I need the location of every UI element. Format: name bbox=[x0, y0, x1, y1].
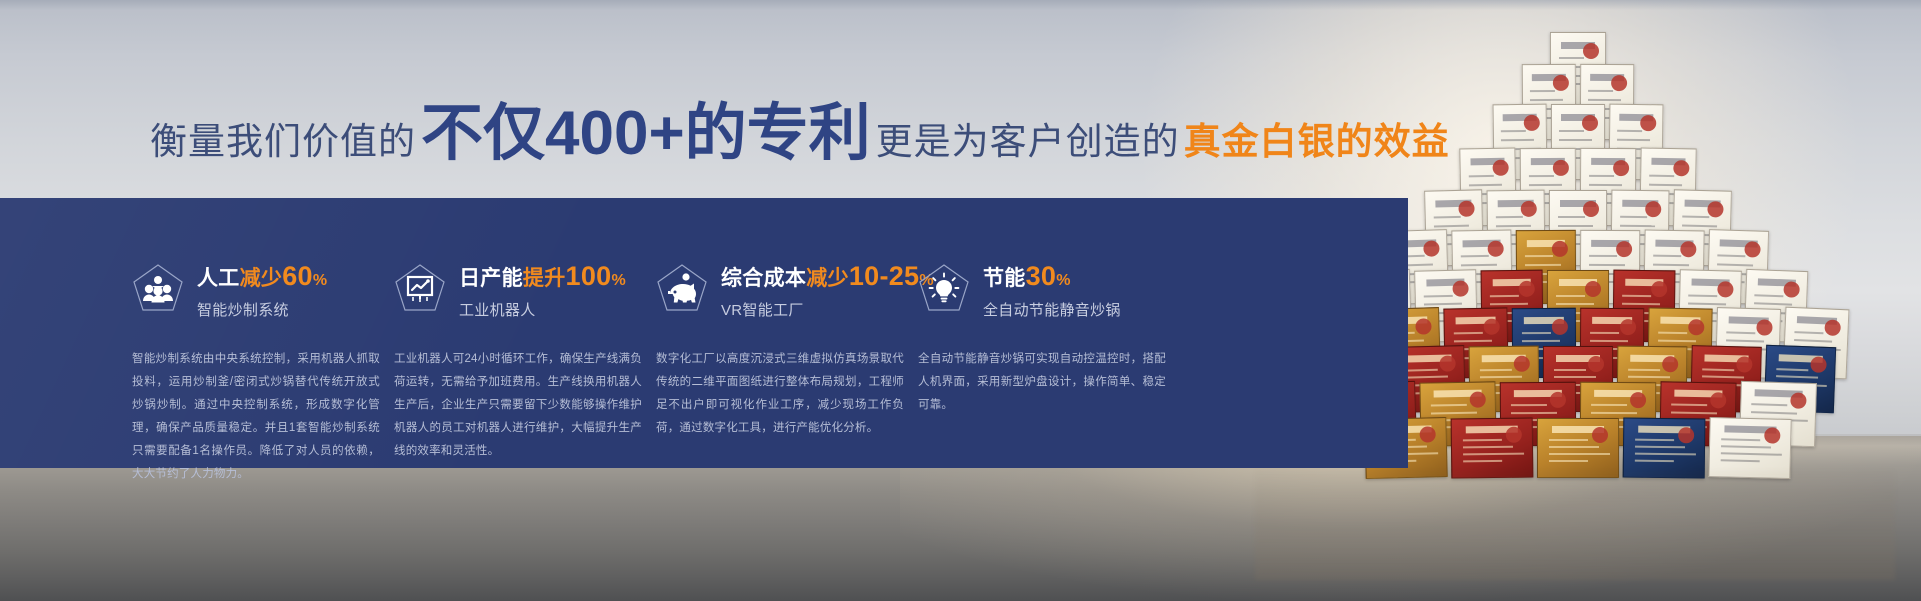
certificate-text-line bbox=[1434, 216, 1461, 219]
certificate-text-line bbox=[1717, 255, 1745, 258]
certificate-seal bbox=[1673, 160, 1689, 176]
feature-card[interactable]: 节能30% 全自动节能静音炒锅 全自动节能静音炒锅可实现自动控温控时，搭配人机界… bbox=[918, 260, 1166, 486]
certificate-text-line bbox=[1468, 184, 1501, 187]
certificate-seal bbox=[1783, 281, 1800, 298]
certificate-seal bbox=[1616, 241, 1632, 257]
headline-lead: 衡量我们价值的 bbox=[150, 111, 416, 165]
certificate-seal bbox=[1550, 392, 1566, 408]
certificate-text-line bbox=[1463, 439, 1501, 441]
certificate-seal bbox=[1415, 318, 1431, 334]
certificate-seal bbox=[1470, 391, 1486, 407]
certificate-text-line bbox=[1635, 445, 1685, 448]
certificate-text-line bbox=[1721, 459, 1759, 462]
feature-card-title: 综合成本减少10-25% bbox=[721, 262, 934, 290]
feature-card-header: 节能30% 全自动节能静音炒锅 bbox=[918, 260, 1166, 332]
certificate-seal bbox=[1552, 160, 1568, 176]
title-accent: 减少 bbox=[240, 267, 283, 290]
feature-card-subtitle: 工业机器人 bbox=[459, 299, 626, 320]
certificate-item bbox=[1537, 418, 1619, 478]
certificate-text-line bbox=[1721, 438, 1759, 441]
certificate-text-line bbox=[1556, 295, 1585, 297]
certificate-seal bbox=[1452, 280, 1468, 296]
certificate-text-line bbox=[1549, 439, 1587, 441]
certificate-text-line bbox=[1511, 404, 1547, 406]
feature-card-titles: 综合成本减少10-25% VR智能工厂 bbox=[721, 260, 934, 320]
team-people-icon bbox=[132, 263, 184, 313]
certificate-seal bbox=[1514, 356, 1530, 372]
certificate-text-line bbox=[1463, 452, 1524, 455]
certificate-text-line bbox=[1558, 216, 1585, 218]
certificate-text-line bbox=[1589, 175, 1615, 177]
certificate-text-line bbox=[1588, 90, 1613, 92]
certificate-seal bbox=[1521, 201, 1537, 217]
certificate-seal bbox=[1765, 427, 1781, 443]
title-accent: 减少 bbox=[806, 267, 849, 290]
certificate-text-line bbox=[1525, 264, 1561, 266]
piggy-bank-icon bbox=[656, 263, 708, 313]
certificate-text-line bbox=[1653, 255, 1681, 258]
certificate-text-line bbox=[1672, 404, 1708, 407]
certificate-seal bbox=[1810, 356, 1827, 373]
chart-presentation-icon bbox=[394, 263, 446, 313]
certificate-text-line bbox=[1528, 175, 1554, 177]
feature-card-titles: 人工减少60% 智能炒制系统 bbox=[197, 260, 327, 320]
certificate-text-line bbox=[1468, 175, 1494, 177]
certificate-seal bbox=[1420, 426, 1436, 442]
certificate-text-line bbox=[1549, 446, 1599, 448]
certificate-text-line bbox=[1752, 403, 1788, 406]
certificate-text-line bbox=[1496, 216, 1523, 218]
certificate-seal bbox=[1662, 356, 1678, 372]
certificate-text-line bbox=[1461, 255, 1489, 258]
certificate-text-line bbox=[1405, 376, 1447, 379]
feature-panel: 人工减少60% 智能炒制系统 智能炒制系统由中央系统控制，采用机器人抓取投料，运… bbox=[0, 198, 1408, 468]
certificate-text-line bbox=[1628, 368, 1661, 370]
certificate-seal bbox=[1708, 201, 1724, 217]
title-prefix: 人工 bbox=[197, 267, 240, 290]
certificate-text-line bbox=[1721, 445, 1771, 448]
background-top-band bbox=[0, 0, 1921, 10]
certificate-seal bbox=[1523, 115, 1539, 131]
certificate-seal bbox=[1583, 201, 1599, 217]
certificate-text-line bbox=[1591, 404, 1627, 406]
certificate-text-line bbox=[1617, 130, 1642, 132]
certificate-text-line bbox=[1463, 445, 1513, 448]
certificate-text-line bbox=[1549, 460, 1587, 462]
certificate-text-line bbox=[1658, 340, 1696, 343]
certificate-seal bbox=[1611, 75, 1627, 91]
certificate-text-line bbox=[1454, 340, 1492, 343]
headline-middle: 更是为客户创造的 bbox=[876, 111, 1180, 165]
certificate-text-line bbox=[1688, 303, 1725, 306]
title-accent: 提升 bbox=[523, 267, 566, 290]
certificate-text-line bbox=[1431, 404, 1467, 407]
feature-card-titles: 节能30% 全自动节能静音炒锅 bbox=[983, 260, 1121, 320]
certificate-text-line bbox=[1658, 332, 1688, 335]
certificate-text-line bbox=[1682, 225, 1717, 228]
certificate-text-line bbox=[1635, 438, 1673, 440]
certificate-text-line bbox=[1479, 369, 1512, 371]
certificate-text-line bbox=[1649, 184, 1682, 187]
certificate-text-line bbox=[1490, 295, 1519, 297]
certificate-text-line bbox=[1549, 453, 1610, 455]
certificate-text-line bbox=[1405, 369, 1438, 372]
feature-card[interactable]: 人工减少60% 智能炒制系统 智能炒制系统由中央系统控制，采用机器人抓取投料，运… bbox=[132, 260, 380, 486]
certificate-text-line bbox=[1726, 331, 1756, 334]
certificate-text-line bbox=[1794, 339, 1832, 343]
feature-card-title: 人工减少60% bbox=[197, 262, 327, 290]
certificate-text-line bbox=[1726, 340, 1764, 343]
certificate-text-line bbox=[1776, 376, 1818, 380]
certificate-text-line bbox=[1635, 452, 1696, 455]
headline-emphasis: 不仅400+的专利 bbox=[421, 82, 871, 172]
certificate-text-line bbox=[1717, 263, 1753, 266]
feature-card-subtitle: 智能炒制系统 bbox=[197, 299, 327, 320]
certificate-text-line bbox=[1682, 216, 1709, 219]
certificate-seal bbox=[1645, 201, 1661, 217]
certificate-text-line bbox=[1620, 216, 1647, 218]
certificate-text-line bbox=[1530, 90, 1555, 92]
certificate-seal bbox=[1519, 281, 1535, 297]
title-percent: % bbox=[1056, 272, 1071, 289]
feature-card[interactable]: 综合成本减少10-25% VR智能工厂 数字化工厂以高度沉浸式三维虚拟仿真场景取… bbox=[656, 260, 904, 486]
certificate-seal bbox=[1744, 241, 1760, 257]
certificate-text-line bbox=[1588, 99, 1620, 101]
certificate-text-line bbox=[1559, 57, 1585, 59]
lightbulb-icon bbox=[918, 263, 970, 313]
certificate-text-line bbox=[1623, 295, 1652, 297]
certificate-seal bbox=[1640, 115, 1656, 131]
certificate-text-line bbox=[1554, 376, 1596, 378]
certificate-seal bbox=[1483, 318, 1499, 334]
feature-card-list: 人工减少60% 智能炒制系统 智能炒制系统由中央系统控制，采用机器人抓取投料，运… bbox=[132, 260, 1166, 486]
certificate-seal bbox=[1680, 241, 1696, 257]
certificate-text-line bbox=[1554, 369, 1587, 371]
certificate-text-line bbox=[1754, 302, 1791, 305]
feature-card-titles: 日产能提升100% 工业机器人 bbox=[459, 260, 626, 320]
certificate-text-line bbox=[1590, 332, 1620, 334]
title-number: 10-25 bbox=[849, 261, 920, 291]
feature-card-subtitle: VR智能工厂 bbox=[721, 299, 934, 320]
certificate-text-line bbox=[1776, 368, 1809, 371]
certificate-seal bbox=[1492, 159, 1508, 175]
feature-card-header: 人工减少60% 智能炒制系统 bbox=[132, 260, 380, 332]
certificate-text-line bbox=[1434, 225, 1469, 228]
banner-stage: 衡量我们价值的 不仅400+的专利 更是为客户创造的 真金白银的效益 bbox=[0, 0, 1921, 601]
headline-highlight: 真金白银的效益 bbox=[1184, 111, 1450, 165]
title-prefix: 综合成本 bbox=[721, 267, 806, 290]
certificate-text-line bbox=[1589, 264, 1625, 266]
certificate-text-line bbox=[1479, 376, 1521, 379]
certificate-seal bbox=[1588, 356, 1604, 372]
certificate-text-line bbox=[1617, 139, 1649, 141]
certificate-seal bbox=[1592, 427, 1608, 443]
feature-card-subtitle: 全自动节能静音炒锅 bbox=[983, 299, 1121, 320]
certificate-text-line bbox=[1501, 139, 1533, 141]
certificate-seal bbox=[1736, 356, 1752, 372]
certificate-text-line bbox=[1501, 130, 1526, 132]
feature-card[interactable]: 日产能提升100% 工业机器人 工业机器人可24小时循环工作，确保生产线满负荷运… bbox=[394, 260, 642, 486]
title-percent: % bbox=[611, 272, 626, 289]
certificate-text-line bbox=[1622, 303, 1659, 305]
certificate-text-line bbox=[1556, 303, 1593, 305]
certificate-seal bbox=[1423, 240, 1439, 256]
certificate-seal bbox=[1459, 201, 1475, 217]
title-number: 100 bbox=[566, 261, 612, 291]
feature-card-title: 节能30% bbox=[983, 262, 1121, 290]
certificate-text-line bbox=[1620, 225, 1655, 227]
certificate-text-line bbox=[1591, 411, 1637, 413]
certificate-text-line bbox=[1689, 294, 1718, 297]
feature-card-title: 日产能提升100% bbox=[459, 262, 626, 290]
certificate-seal bbox=[1824, 319, 1841, 336]
certificate-seal bbox=[1790, 392, 1806, 408]
certificate-text-line bbox=[1463, 459, 1501, 461]
certificate-text-line bbox=[1671, 411, 1717, 414]
certificate-text-line bbox=[1794, 331, 1824, 334]
certificate-text-line bbox=[1424, 303, 1461, 306]
certificate-seal bbox=[1688, 319, 1704, 335]
certificate-seal bbox=[1620, 319, 1636, 335]
headline: 衡量我们价值的 不仅400+的专利 更是为客户创造的 真金白银的效益 bbox=[150, 82, 1450, 172]
certificate-text-line bbox=[1461, 264, 1497, 267]
certificate-seal bbox=[1717, 281, 1733, 297]
certificate-text-line bbox=[1559, 130, 1584, 132]
certificate-text-line bbox=[1590, 340, 1628, 342]
certificate-text-line bbox=[1635, 459, 1673, 461]
feature-card-header: 综合成本减少10-25% VR智能工厂 bbox=[656, 260, 904, 332]
certificate-text-line bbox=[1653, 264, 1689, 267]
certificate-text-line bbox=[1702, 368, 1735, 371]
certificate-seal bbox=[1583, 43, 1599, 59]
certificate-text-line bbox=[1522, 340, 1560, 342]
feature-card-body: 数字化工厂以高度沉浸式三维虚拟仿真场景取代传统的二维平面图纸进行整体布局规划，工… bbox=[656, 348, 904, 440]
certificate-text-line bbox=[1649, 174, 1675, 176]
certificate-seal bbox=[1651, 281, 1667, 297]
certificate-text-line bbox=[1424, 295, 1453, 298]
certificate-seal bbox=[1585, 281, 1601, 297]
certificate-wall-reflection bbox=[1255, 470, 1895, 580]
certificate-text-line bbox=[1558, 225, 1593, 227]
certificate-text-line bbox=[1589, 184, 1622, 186]
certificate-text-line bbox=[1453, 332, 1483, 335]
certificate-text-line bbox=[1431, 411, 1477, 414]
feature-card-header: 日产能提升100% 工业机器人 bbox=[394, 260, 642, 332]
certificate-seal bbox=[1552, 241, 1568, 257]
certificate-seal bbox=[1710, 392, 1726, 408]
certificate-text-line bbox=[1490, 303, 1527, 305]
certificate-seal bbox=[1678, 427, 1694, 443]
certificate-seal bbox=[1551, 318, 1567, 334]
certificate-text-line bbox=[1522, 332, 1552, 334]
feature-card-body: 智能炒制系统由中央系统控制，采用机器人抓取投料，运用炒制釜/密闭式炒锅替代传统开… bbox=[132, 348, 380, 486]
certificate-seal bbox=[1613, 160, 1629, 176]
certificate-text-line bbox=[1530, 99, 1562, 101]
certificate-seal bbox=[1756, 319, 1772, 335]
certificate-text-line bbox=[1525, 255, 1553, 257]
title-prefix: 日产能 bbox=[459, 267, 523, 290]
certificate-text-line bbox=[1702, 376, 1744, 379]
certificate-text-line bbox=[1628, 376, 1670, 379]
certificate-seal bbox=[1553, 75, 1569, 91]
title-number: 30 bbox=[1026, 261, 1057, 291]
certificate-seal bbox=[1506, 427, 1522, 443]
certificate-text-line bbox=[1721, 452, 1782, 455]
certificate-text-line bbox=[1755, 294, 1784, 297]
certificate-text-line bbox=[1751, 411, 1797, 414]
feature-card-body: 工业机器人可24小时循环工作，确保生产线满负荷运转，无需给予加班费用。生产线换用… bbox=[394, 348, 642, 463]
title-number: 60 bbox=[282, 261, 313, 291]
certificate-seal bbox=[1630, 392, 1646, 408]
title-percent: % bbox=[313, 272, 328, 289]
certificate-seal bbox=[1439, 355, 1455, 371]
certificate-seal bbox=[1582, 115, 1598, 131]
certificate-text-line bbox=[1529, 184, 1562, 186]
feature-card-body: 全自动节能静音炒锅可实现自动控温控时，搭配人机界面，采用新型炉盘设计，操作简单、… bbox=[918, 348, 1166, 417]
certificate-text-line bbox=[1559, 139, 1591, 141]
certificate-text-line bbox=[1511, 411, 1557, 413]
certificate-text-line bbox=[1496, 225, 1531, 227]
certificate-seal bbox=[1488, 241, 1504, 257]
title-prefix: 节能 bbox=[983, 267, 1026, 290]
certificate-text-line bbox=[1589, 255, 1617, 257]
